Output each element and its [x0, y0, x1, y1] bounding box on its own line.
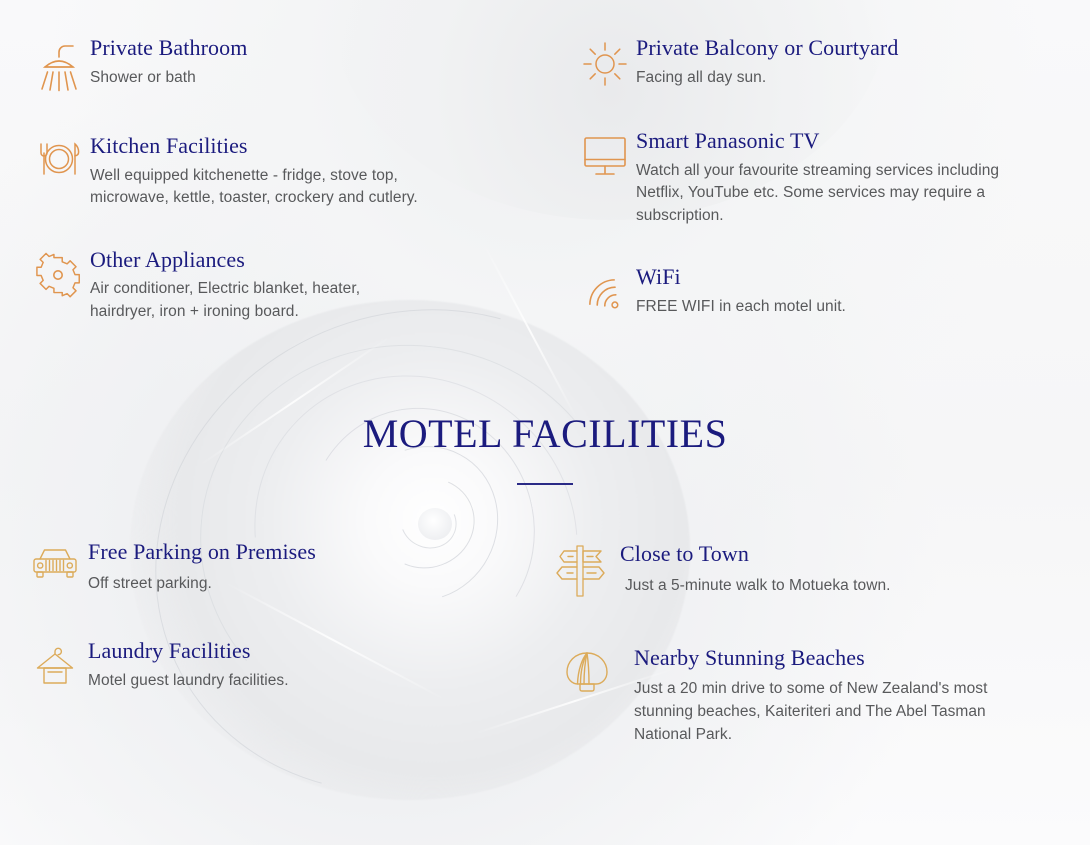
section-title-block: MOTEL FACILITIES — [0, 410, 1090, 485]
car-icon — [22, 540, 88, 586]
feature-wifi: WiFi FREE WIFI in each motel unit. — [574, 265, 1090, 319]
feature-heading: Other Appliances — [90, 248, 560, 273]
feature-private-balcony: Private Balcony or Courtyard Facing all … — [574, 36, 1090, 89]
feature-heading: Smart Panasonic TV — [636, 129, 1090, 154]
facilities-page: Private Bathroom Shower or bath — [0, 0, 1090, 845]
cutlery-plate-icon — [28, 134, 90, 184]
clothes-hanger-icon — [22, 639, 88, 689]
feature-description: Watch all your favourite streaming servi… — [636, 160, 1014, 227]
feature-description: Well equipped kitchenette - fridge, stov… — [90, 165, 445, 210]
feature-private-bathroom: Private Bathroom Shower or bath — [28, 36, 560, 94]
feature-description: Off street parking. — [88, 573, 530, 595]
feature-smart-tv: Smart Panasonic TV Watch all your favour… — [574, 129, 1090, 227]
feature-description: Motel guest laundry facilities. — [88, 670, 530, 692]
feature-other-appliances: Other Appliances Air conditioner, Electr… — [28, 248, 560, 324]
feature-laundry: Laundry Facilities Motel guest laundry f… — [22, 639, 530, 692]
feature-description: Just a 20 min drive to some of New Zeala… — [634, 677, 1014, 747]
feature-heading: Close to Town — [620, 542, 1090, 567]
feature-free-parking: Free Parking on Premises Off street park… — [22, 540, 530, 595]
feature-heading: Kitchen Facilities — [90, 134, 560, 159]
gear-icon — [28, 248, 90, 300]
feature-description: Shower or bath — [90, 67, 560, 89]
feature-heading: Laundry Facilities — [88, 639, 530, 664]
seashell-icon — [540, 646, 634, 694]
feature-description: Facing all day sun. — [636, 67, 1090, 89]
feature-nearby-beaches: Nearby Stunning Beaches Just a 20 min dr… — [540, 646, 1090, 746]
feature-description: FREE WIFI in each motel unit. — [636, 296, 1090, 318]
feature-heading: Nearby Stunning Beaches — [634, 646, 1090, 671]
wifi-icon — [574, 265, 636, 319]
signpost-icon — [540, 540, 620, 600]
feature-heading: WiFi — [636, 265, 1090, 290]
sun-icon — [574, 36, 636, 88]
shower-icon — [28, 36, 90, 94]
tv-monitor-icon — [574, 129, 636, 179]
feature-heading: Private Balcony or Courtyard — [636, 36, 1090, 61]
feature-description: Just a 5-minute walk to Motueka town. — [625, 575, 1090, 597]
feature-description: Air conditioner, Electric blanket, heate… — [90, 278, 400, 323]
feature-kitchen-facilities: Kitchen Facilities Well equipped kitchen… — [28, 134, 560, 210]
title-divider — [517, 483, 573, 485]
feature-heading: Free Parking on Premises — [88, 540, 530, 565]
feature-close-to-town: Close to Town Just a 5-minute walk to Mo… — [540, 540, 1090, 600]
page-title: MOTEL FACILITIES — [0, 410, 1090, 457]
feature-heading: Private Bathroom — [90, 36, 560, 61]
